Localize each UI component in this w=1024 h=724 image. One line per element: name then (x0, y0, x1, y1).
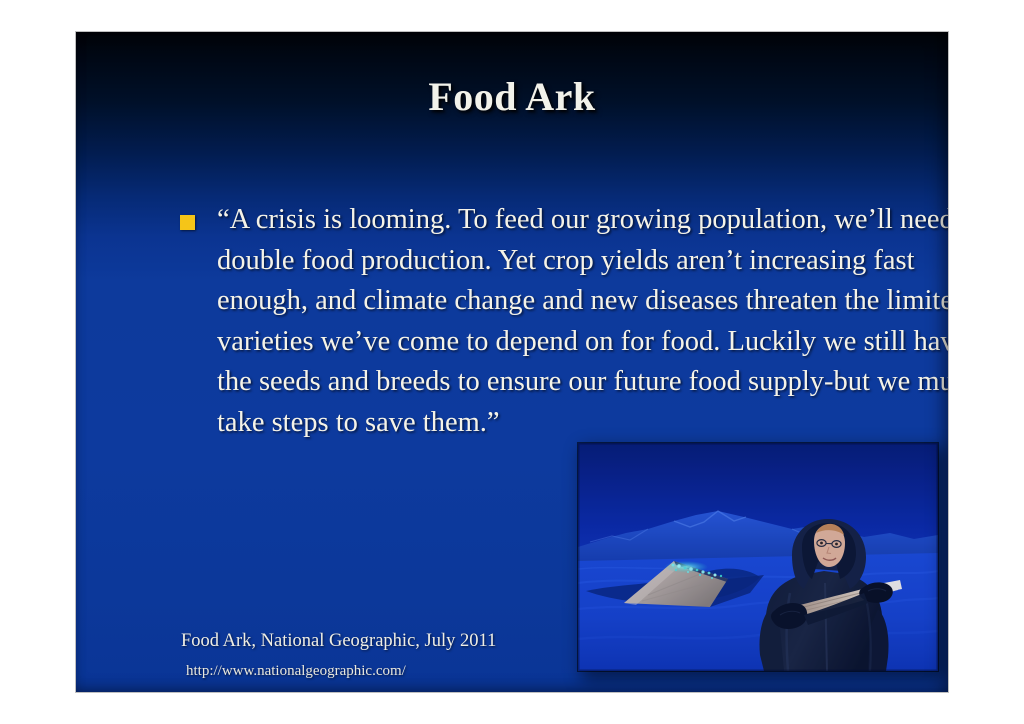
slide-title: Food Ark (76, 74, 948, 120)
source-caption: Food Ark, National Geographic, July 2011 (181, 630, 496, 652)
slide-body: “A crisis is looming. To feed our growin… (180, 200, 948, 443)
bullet-item: “A crisis is looming. To feed our growin… (180, 200, 948, 443)
square-bullet-icon (180, 215, 195, 230)
presentation-slide: Food Ark “A crisis is looming. To feed o… (76, 32, 948, 692)
page-root: Food Ark “A crisis is looming. To feed o… (0, 0, 1024, 724)
seed-vault-photo (578, 443, 938, 671)
source-url-link[interactable]: http://www.nationalgeographic.com/ (186, 662, 406, 681)
bullet-text: “A crisis is looming. To feed our growin… (217, 200, 948, 443)
seed-vault-illustration (578, 443, 938, 671)
